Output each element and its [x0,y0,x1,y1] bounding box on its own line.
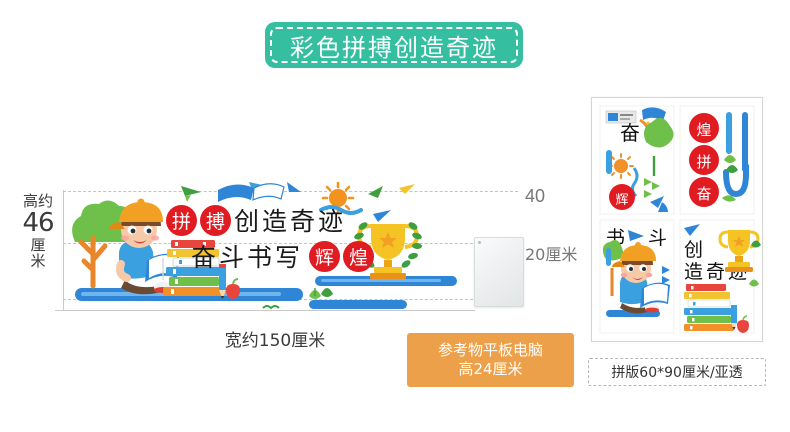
page-title: 彩色拼搏创造奇迹 [290,28,498,63]
headline-row-1: 拼 搏 创造奇迹 [166,202,346,238]
headline-row-2: 奋斗书写 辉 煌 [191,238,374,274]
height-unit-second: 米 [18,253,58,269]
reference-note-line2: 高24厘米 [458,360,522,379]
tick-label-20cm: 20厘米 [525,241,577,265]
bird-decoration [263,306,279,308]
sheet-char-fen: 奋 [620,121,640,145]
page-title-pill: 彩色拼搏创造奇迹 [265,22,523,68]
height-value: 46 [18,209,58,237]
sheet-char-qi: 奇 [706,261,725,283]
sheet-char-chuang: 创 [684,239,703,261]
sheet-caption: 拼版60*90厘米/亚透 [588,358,766,386]
headline-text-1: 创造奇迹 [234,202,346,238]
sheet-badge-hui: 辉 [615,193,628,208]
base-bar-small [309,300,407,309]
headline-badge-hui: 辉 [309,241,340,272]
height-measurement-label: 高约 46 厘 米 [18,193,58,270]
sheet-badge-fen: 奋 [696,185,711,203]
reference-note-line1: 参考物平板电脑 [438,341,543,360]
sheet-char-dou: 斗 [648,227,667,249]
wall-sticker-artwork: 拼 搏 创造奇迹 奋斗书写 辉 煌 [63,180,483,315]
reference-note-box: 参考物平板电脑 高24厘米 [407,333,574,387]
page-root: 彩色拼搏创造奇迹 高约 46 厘 米 宽约150厘米 40 20厘米 参考物平板… [0,0,790,432]
apple-icon [226,279,240,299]
leaf-decorations [309,288,333,299]
sticker-sheet-panel: 奋 [591,97,763,342]
sheet-char-zao: 造 [684,261,703,283]
headline-badge-pin: 拼 [166,205,197,236]
sheet-badge-huang: 煌 [696,121,711,139]
sheet-badge-pin: 拼 [696,153,711,171]
base-bar-right-highlight [321,279,441,282]
headline-text-2: 奋斗书写 [191,238,303,274]
headline-badge-bo: 搏 [200,205,231,236]
height-prefix: 高约 [18,193,58,209]
height-unit-first: 厘 [18,237,58,253]
headline-badge-huang: 煌 [343,241,374,272]
width-measurement-label: 宽约150厘米 [175,326,375,351]
sticker-sheet-svg: 奋 [592,98,762,341]
tick-label-40: 40 [525,186,545,207]
